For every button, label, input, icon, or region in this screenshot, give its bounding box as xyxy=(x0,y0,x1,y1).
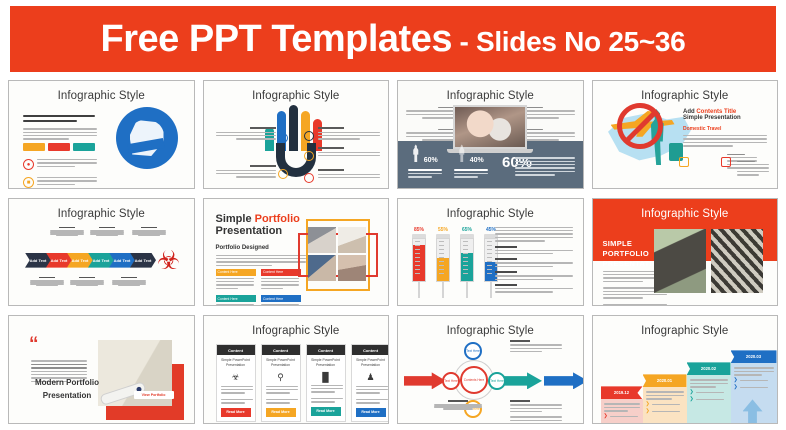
card-header: Content xyxy=(352,345,390,355)
photo xyxy=(308,227,336,253)
slide-thumbnail-30[interactable]: Simple Portfolio Presentation Portfolio … xyxy=(203,198,390,307)
banner-subtitle: - Slides No 25~36 xyxy=(452,26,686,57)
slide-thumbnail-36[interactable]: Infographic Style 2019.12 ❯ 2020.01 ❯ xyxy=(592,315,779,424)
card-subtitle: Simple PowerPoint Presentation xyxy=(217,355,255,370)
slide-thumbnail-29[interactable]: Infographic Style Add Text Add Text Add … xyxy=(8,198,195,307)
title-prefix: Simple xyxy=(216,213,255,225)
slide-title: Infographic Style xyxy=(9,208,194,220)
page-root: Free PPT Templates - Slides No 25~36 Inf… xyxy=(0,0,786,430)
card-subtitle: Simple PowerPoint Presentation xyxy=(262,355,300,370)
content-card[interactable]: Content Simple PowerPoint Presentation █… xyxy=(306,344,346,421)
slide-thumbnail-32[interactable]: Infographic Style SIMPLE PORTFOLIO PRESE… xyxy=(592,198,779,307)
bulb-icon xyxy=(304,151,314,161)
slide-thumbnail-27[interactable]: Infographic Style xyxy=(397,80,584,189)
person-icon xyxy=(412,144,419,162)
step-body: ❯ ❯ xyxy=(687,375,731,424)
clock-icon xyxy=(304,173,314,183)
pill-button[interactable] xyxy=(48,143,70,151)
card-header: Content xyxy=(217,345,255,355)
copy-heading xyxy=(495,284,517,286)
page-title: Simple Portfolio Presentation xyxy=(216,213,300,237)
list-item: ■ xyxy=(23,177,99,188)
content-card[interactable]: Content Simple PowerPoint Presentation ⚲… xyxy=(261,344,301,421)
note-block xyxy=(510,400,562,414)
header-banner: Free PPT Templates - Slides No 25~36 xyxy=(10,6,776,72)
content-card-group: Content Simple PowerPoint Presentation ☣… xyxy=(216,344,390,421)
slide-title: Infographic Style xyxy=(398,208,583,220)
no-entry-icon xyxy=(679,157,689,167)
virus-icon: ☣ xyxy=(217,372,255,383)
stat-block: 60% xyxy=(408,144,442,179)
body-copy xyxy=(495,227,573,295)
slide-thumbnail-35[interactable]: Infographic Style Contents Here Text Her… xyxy=(397,315,584,424)
slide-title: Infographic Style xyxy=(398,90,583,102)
list-item xyxy=(404,107,456,121)
syringe-bar: 55% xyxy=(436,227,450,298)
hand-icon xyxy=(278,169,288,179)
read-more-button[interactable]: Read More xyxy=(221,408,251,417)
step-date: 2020.02 xyxy=(687,362,731,375)
title-line1: Modern Portfolio xyxy=(35,377,99,390)
photo-row xyxy=(654,229,763,293)
body-copy xyxy=(23,115,97,142)
book-icon: ■ xyxy=(23,177,34,188)
slide-grid: Infographic Style ● xyxy=(8,80,778,424)
stat-block: 40% xyxy=(454,144,488,179)
list-item xyxy=(210,127,276,142)
person-icon xyxy=(458,144,465,162)
timeline-label xyxy=(87,227,127,236)
briefcase-icon xyxy=(304,131,314,141)
arrow-right-blue[interactable] xyxy=(544,372,584,389)
list-item xyxy=(210,165,276,180)
biohazard-icon: ☣ xyxy=(156,247,182,273)
timeline-label xyxy=(27,277,67,286)
syringe-percent: 55% xyxy=(436,227,450,233)
content-box-header: Content Here xyxy=(216,269,256,276)
read-more-button[interactable]: Read More xyxy=(311,407,341,416)
cycle-node-top[interactable]: Text Here xyxy=(464,342,482,360)
step-item[interactable]: 2020.01 ❯ ❯ xyxy=(643,374,687,424)
alert-icon xyxy=(721,157,731,167)
up-arrow-icon xyxy=(743,399,763,424)
step-body: ❯ xyxy=(601,399,643,424)
slide-title: Infographic Style xyxy=(593,208,778,220)
title-line2: Presentation xyxy=(35,390,99,403)
content-card[interactable]: Content Simple PowerPoint Presentation ♟… xyxy=(351,344,390,421)
list-item xyxy=(404,129,456,143)
slide-title: Infographic Style xyxy=(593,325,778,337)
mask-icon: █ xyxy=(307,372,345,382)
stat-value: 40% xyxy=(470,157,484,164)
syringe-percent: 85% xyxy=(412,227,426,233)
card-header: Content xyxy=(262,345,300,355)
banner-title: Free PPT Templates xyxy=(101,18,452,60)
timeline-label xyxy=(67,277,107,286)
pill-button-row xyxy=(23,143,95,151)
card-subtitle: Simple PowerPoint Presentation xyxy=(307,355,345,370)
content-box[interactable]: Content Here xyxy=(261,295,301,306)
page-title: Modern Portfolio Presentation xyxy=(35,377,99,403)
content-box[interactable]: Content Here xyxy=(216,269,256,292)
megaphone-icon: ● xyxy=(23,159,34,170)
step-item[interactable]: 2019.12 ❯ xyxy=(601,386,643,424)
icon-column xyxy=(679,154,721,172)
step-date: 2020.03 xyxy=(731,350,777,363)
subtitle: Portfolio Designed xyxy=(216,245,269,251)
timeline-label xyxy=(47,227,87,236)
photo xyxy=(338,227,366,253)
photo xyxy=(338,255,366,281)
snake-photo xyxy=(711,229,763,293)
list-item: ● xyxy=(23,159,99,170)
slide-title: Infographic Style xyxy=(9,90,194,102)
subheading: Domestic Travel xyxy=(683,126,769,132)
read-more-button[interactable]: Read More xyxy=(356,408,386,417)
face-mask-sign-icon xyxy=(116,107,178,169)
copy-heading xyxy=(495,258,517,260)
content-box-header: Content Here xyxy=(216,295,256,302)
step-item[interactable]: 2020.03 ❯ ❯ xyxy=(731,350,777,424)
card-subtitle: Simple PowerPoint Presentation xyxy=(352,355,390,370)
bat-photo xyxy=(654,229,706,293)
title-line2: Presentation xyxy=(216,225,300,237)
microscope-icon: ⚲ xyxy=(262,372,300,383)
step-date: 2020.01 xyxy=(643,374,687,387)
slide-title: Infographic Style xyxy=(204,325,389,337)
content-box-header: Content Here xyxy=(261,295,301,302)
photo-grid xyxy=(308,227,366,281)
content-box[interactable]: Content Here xyxy=(216,295,256,306)
note-block xyxy=(510,340,562,354)
view-portfolio-button[interactable]: View Portfolio xyxy=(134,391,174,399)
list-item xyxy=(318,127,384,142)
syringe-bar: 65% xyxy=(460,227,474,298)
timeline-label xyxy=(109,277,149,286)
content-box-group: Content Here Content Here xyxy=(216,269,302,307)
slide-thumbnail-28[interactable]: Infographic Style Add Contents Title Sim… xyxy=(592,80,779,189)
arrow-left[interactable] xyxy=(404,372,446,389)
heading-line2: Simple Presentation xyxy=(683,115,769,121)
step-item[interactable]: 2020.02 ❯ ❯ xyxy=(687,362,731,424)
footer-copy xyxy=(515,157,577,177)
copy-heading xyxy=(495,271,517,273)
quote-mark-icon: “ xyxy=(29,338,39,351)
content-box-header: Content Here xyxy=(261,269,301,276)
list-item xyxy=(318,169,384,180)
step-body: ❯ ❯ xyxy=(731,363,777,424)
slide-title: Infographic Style xyxy=(204,90,389,102)
copy-heading xyxy=(495,246,517,248)
syringe-chart: 85% 55% 65% xyxy=(412,227,498,298)
pill-button[interactable] xyxy=(73,143,95,151)
list-item xyxy=(318,147,384,158)
user-icon xyxy=(278,133,288,143)
timeline-label xyxy=(129,227,169,236)
note-block xyxy=(432,400,484,409)
photo xyxy=(308,255,336,281)
read-more-button[interactable]: Read More xyxy=(266,408,296,417)
note-block xyxy=(510,416,562,424)
step-date: 2019.12 xyxy=(601,386,643,399)
step-body: ❯ ❯ xyxy=(643,387,687,424)
content-heading: Add Contents Title Simple Presentation D… xyxy=(683,109,769,149)
slide-thumbnail-34[interactable]: Infographic Style Content Simple PowerPo… xyxy=(203,315,390,424)
syringe-percent: 65% xyxy=(460,227,474,233)
content-box[interactable]: Content Here xyxy=(261,269,301,292)
card-header: Content xyxy=(307,345,345,355)
chevron-step[interactable]: Add Text xyxy=(25,253,51,268)
banner-text: Free PPT Templates - Slides No 25~36 xyxy=(101,20,686,58)
slide-title: Infographic Style xyxy=(398,325,583,337)
no-entry-icon xyxy=(617,103,663,149)
person-icon: ♟ xyxy=(352,372,390,383)
slide-thumbnail-26[interactable]: Infographic Style xyxy=(203,80,390,189)
stat-value: 60% xyxy=(424,157,438,164)
slide-thumbnail-25[interactable]: Infographic Style ● xyxy=(8,80,195,189)
content-card[interactable]: Content Simple PowerPoint Presentation ☣… xyxy=(216,344,256,421)
title-highlight: Portfolio xyxy=(255,213,300,225)
syringe-bar: 85% xyxy=(412,227,426,298)
list-item xyxy=(525,129,577,143)
slide-title: Infographic Style xyxy=(593,90,778,102)
pill-button[interactable] xyxy=(23,143,45,151)
slide-thumbnail-33[interactable]: “ View Portfolio Modern Portfolio Presen… xyxy=(8,315,195,424)
chevron-timeline: Add Text Add Text Add Text Add Text Add … xyxy=(25,253,151,268)
slide-thumbnail-31[interactable]: Infographic Style 85% 55% xyxy=(397,198,584,307)
list-item xyxy=(525,107,577,121)
